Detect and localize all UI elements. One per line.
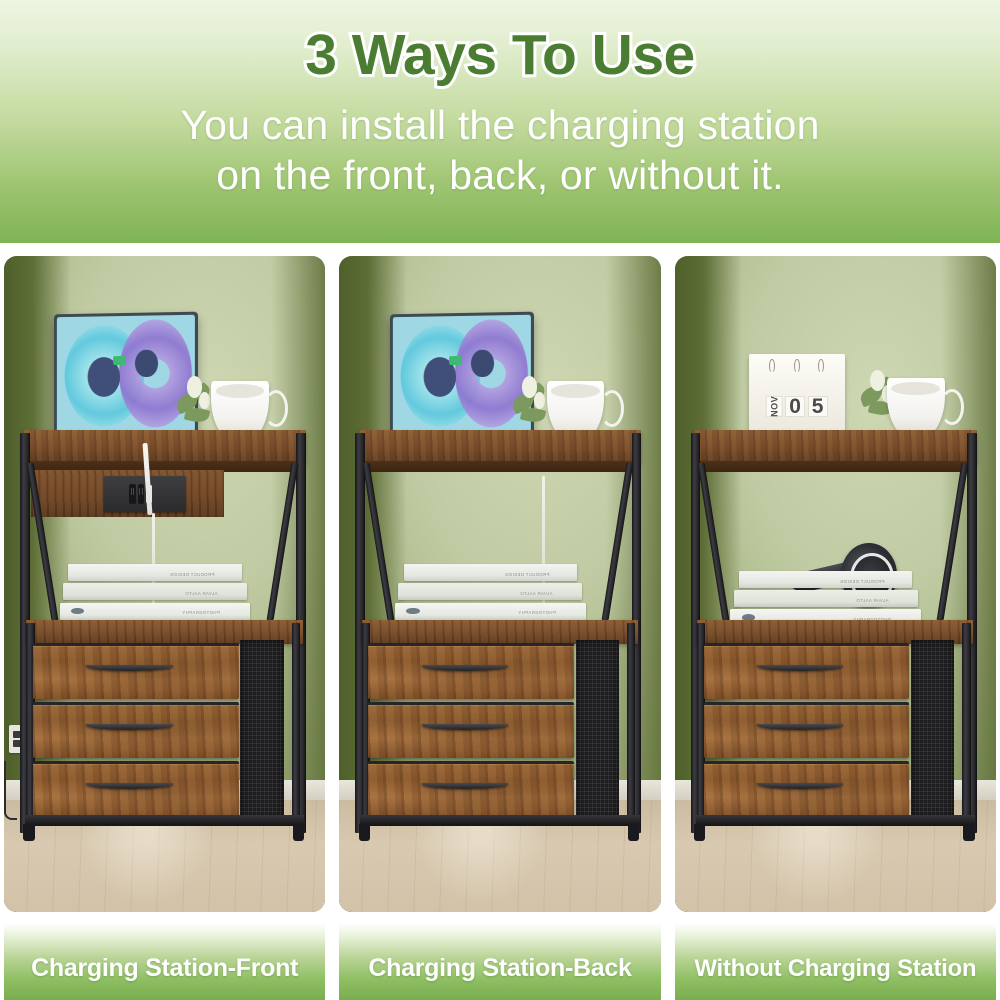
frame-foot — [23, 824, 35, 841]
frame-rail — [696, 815, 976, 826]
screen-accent-marker — [113, 356, 125, 366]
power-cable — [4, 761, 17, 820]
frame-foot — [628, 824, 640, 841]
frame-leg — [627, 623, 635, 820]
book: PRODUCT DESIGN — [68, 564, 242, 581]
drawer[interactable] — [704, 761, 910, 817]
wallpaper-ring-hole — [471, 349, 493, 377]
book-stack: PRODUCT DESIGN ALVAR AALTO PHOTOGRAPHY — [404, 564, 578, 620]
book: PRODUCT DESIGN — [404, 564, 578, 581]
caption-front: Charging Station-Front — [4, 923, 325, 1000]
subtitle-line-2: on the front, back, or without it. — [180, 150, 819, 200]
drawer-stack — [368, 643, 574, 817]
caption-label: Without Charging Station — [694, 955, 976, 983]
flip-calendar: NOV 0 5 — [749, 354, 845, 433]
calendar-month: NOV — [766, 396, 783, 417]
drawer[interactable] — [33, 702, 239, 758]
product-panel-back[interactable]: PRODUCT DESIGN ALVAR AALTO PHOTOGRAPHY — [339, 256, 660, 912]
drawer[interactable] — [368, 643, 574, 699]
frame-leg — [962, 623, 970, 820]
book-title: PRODUCT DESIGN — [840, 579, 884, 584]
tabletop — [23, 430, 306, 463]
frame-rail — [25, 815, 305, 826]
caption-without: Without Charging Station — [675, 923, 996, 1000]
screen-accent-marker — [449, 356, 461, 366]
page-subtitle: You can install the charging station on … — [180, 100, 819, 200]
caption-row: Charging Station-Front Charging Station-… — [0, 923, 1000, 1000]
teacup-handle — [600, 390, 624, 427]
mesh-side-panel — [240, 640, 283, 820]
product-panel-without[interactable]: NOV 0 5 PRODUCT DESIGN ALVAR AALTO — [675, 256, 996, 912]
frame-foot — [963, 824, 975, 841]
book-title: ALVAR AALTO — [856, 598, 889, 603]
caption-label: Charging Station-Front — [31, 954, 298, 983]
panel-row: PRODUCT DESIGN ALVAR AALTO PHOTOGRAPHY — [0, 256, 1000, 912]
page-title: 3 Ways To Use — [305, 26, 694, 86]
teacup-handle — [940, 389, 964, 426]
caption-label: Charging Station-Back — [368, 954, 631, 983]
drawer[interactable] — [368, 761, 574, 817]
book: ALVAR AALTO — [63, 583, 247, 600]
calendar-day-ones: 5 — [808, 396, 828, 417]
tabletop — [359, 430, 642, 463]
tabletop-edge — [694, 461, 977, 472]
book: PHOTOGRAPHY — [60, 603, 251, 620]
book: ALVAR AALTO — [398, 583, 582, 600]
drawer-stack — [33, 643, 239, 817]
frame-foot — [359, 824, 371, 841]
book: PRODUCT DESIGN — [739, 571, 913, 588]
ac-socket[interactable] — [129, 484, 135, 505]
frame-leg — [292, 623, 300, 820]
book: PHOTOGRAPHY — [395, 603, 586, 620]
book-stack: PRODUCT DESIGN ALVAR AALTO PHOTOGRAPHY — [739, 571, 913, 627]
book-stack: PRODUCT DESIGN ALVAR AALTO PHOTOGRAPHY — [68, 564, 242, 620]
book: ALVAR AALTO — [734, 590, 918, 607]
drawer[interactable] — [33, 643, 239, 699]
drawer[interactable] — [704, 702, 910, 758]
ac-socket[interactable] — [138, 484, 144, 505]
calendar-day-tens: 0 — [785, 396, 805, 417]
drawer[interactable] — [704, 643, 910, 699]
mesh-side-panel — [576, 640, 619, 820]
drawer[interactable] — [33, 761, 239, 817]
product-panel-front[interactable]: PRODUCT DESIGN ALVAR AALTO PHOTOGRAPHY — [4, 256, 325, 912]
frame-foot — [694, 824, 706, 841]
tabletop — [694, 430, 977, 463]
caption-back: Charging Station-Back — [339, 923, 660, 1000]
calendar-rings — [760, 359, 833, 373]
frame-foot — [293, 824, 305, 841]
tabletop-edge — [359, 461, 642, 472]
header-banner: 3 Ways To Use You can install the chargi… — [0, 0, 1000, 243]
subtitle-line-1: You can install the charging station — [180, 102, 819, 148]
frame-rail — [360, 815, 640, 826]
drawer[interactable] — [368, 702, 574, 758]
drawer-stack — [704, 643, 910, 817]
mesh-side-panel — [911, 640, 954, 820]
